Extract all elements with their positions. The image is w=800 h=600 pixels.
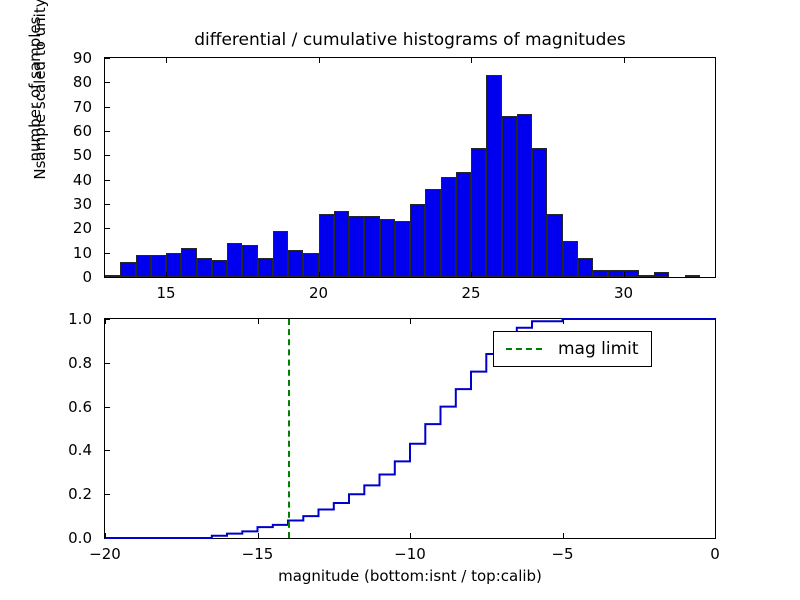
histogram-bar — [547, 214, 562, 277]
figure-canvas: differential / cumulative histograms of … — [0, 0, 800, 600]
histogram-bar — [395, 221, 410, 277]
histogram-bar — [532, 148, 547, 277]
histogram-bar — [364, 216, 379, 277]
top-y-tick-mark — [105, 58, 110, 59]
histogram-bar — [624, 270, 639, 277]
top-x-tick-label: 30 — [614, 284, 633, 302]
histogram-bar — [425, 189, 440, 277]
bottom-x-tick-mark — [410, 533, 411, 538]
top-y-tick-label: 20 — [32, 219, 92, 237]
histogram-bar — [242, 245, 257, 277]
bottom-x-tick-mark — [563, 533, 564, 538]
legend-label-mag-limit: mag limit — [558, 339, 639, 359]
top-y-tick-label: 10 — [32, 244, 92, 262]
top-y-tick-mark — [105, 131, 110, 132]
top-histogram-plot — [104, 57, 716, 278]
top-x-tick-mark — [319, 58, 320, 63]
top-y-tick-mark — [105, 228, 110, 229]
bottom-y-tick-label: 0.0 — [32, 529, 92, 547]
histogram-bar — [563, 241, 578, 278]
legend-box: mag limit — [493, 331, 652, 367]
histogram-bar — [517, 114, 532, 277]
bottom-x-tick-mark — [258, 533, 259, 538]
top-x-tick-label: 15 — [156, 284, 175, 302]
histogram-bar — [151, 255, 166, 277]
bottom-x-tick-mark — [715, 533, 716, 538]
top-y-tick-label: 0 — [32, 268, 92, 286]
bottom-x-tick-label: −15 — [242, 545, 274, 563]
bottom-x-tick-mark-top — [410, 319, 411, 324]
histogram-bar — [410, 204, 425, 277]
top-x-tick-mark — [624, 58, 625, 63]
bottom-y-tick-label: 0.6 — [32, 398, 92, 416]
histogram-bar — [654, 272, 669, 277]
bottom-y-tick-label: 0.4 — [32, 441, 92, 459]
histogram-bar — [380, 219, 395, 277]
bottom-y-axis-label: Nsample scaled to unity — [31, 0, 49, 204]
histogram-bar — [258, 258, 273, 277]
bottom-y-tick-label: 1.0 — [32, 310, 92, 328]
histogram-bar — [181, 248, 196, 277]
bottom-x-tick-mark-top — [105, 319, 106, 324]
histogram-bar — [639, 275, 654, 277]
histogram-bar — [212, 260, 227, 277]
top-y-tick-mark — [105, 155, 110, 156]
top-x-tick-mark-bottom — [471, 272, 472, 277]
top-x-tick-label: 25 — [461, 284, 480, 302]
bottom-x-tick-mark-top — [563, 319, 564, 324]
histogram-bar — [471, 148, 486, 277]
top-x-tick-mark-bottom — [166, 272, 167, 277]
histogram-bar — [593, 270, 608, 277]
histogram-bar — [578, 258, 593, 277]
chart-title: differential / cumulative histograms of … — [104, 30, 716, 50]
cumulative-plot: mag limit — [104, 318, 716, 539]
bottom-y-tick-mark — [105, 494, 110, 495]
top-y-tick-mark — [105, 82, 110, 83]
histogram-bar — [136, 255, 151, 277]
bottom-x-tick-label: −20 — [89, 545, 121, 563]
bottom-y-tick-mark — [105, 363, 110, 364]
histogram-bar — [349, 216, 364, 277]
top-x-tick-mark-bottom — [319, 272, 320, 277]
top-x-tick-mark — [471, 58, 472, 63]
histogram-bar — [105, 275, 120, 277]
bottom-y-tick-mark — [105, 407, 110, 408]
mag-limit-line — [288, 319, 290, 538]
histogram-bar — [441, 177, 456, 277]
bottom-x-tick-label: 0 — [710, 545, 720, 563]
bottom-y-tick-label: 0.8 — [32, 354, 92, 372]
bottom-y-tick-label: 0.2 — [32, 485, 92, 503]
histogram-bar — [502, 116, 517, 277]
top-x-tick-mark — [166, 58, 167, 63]
histogram-bar — [288, 250, 303, 277]
histogram-bar — [166, 253, 181, 277]
top-y-tick-mark — [105, 180, 110, 181]
histogram-bar — [319, 214, 334, 277]
histogram-bar — [273, 231, 288, 277]
histogram-bar — [334, 211, 349, 277]
bottom-x-tick-mark-top — [258, 319, 259, 324]
histogram-bar — [456, 172, 471, 277]
top-x-tick-label: 20 — [309, 284, 328, 302]
top-y-tick-mark — [105, 204, 110, 205]
histogram-bar — [227, 243, 242, 277]
histogram-bar — [685, 275, 700, 277]
histogram-bar — [303, 253, 318, 277]
x-axis-label: magnitude (bottom:isnt / top:calib) — [104, 567, 716, 585]
top-y-tick-mark — [105, 107, 110, 108]
mag-limit-legend-swatch — [506, 348, 542, 350]
top-y-tick-mark — [105, 253, 110, 254]
bottom-x-tick-mark-top — [715, 319, 716, 324]
histogram-bar — [486, 75, 501, 277]
bottom-x-tick-label: −5 — [551, 545, 573, 563]
bottom-y-tick-mark — [105, 450, 110, 451]
bottom-x-tick-label: −10 — [394, 545, 426, 563]
bottom-x-tick-mark — [105, 533, 106, 538]
histogram-bar — [608, 270, 623, 277]
histogram-bar — [120, 262, 135, 277]
histogram-bar — [197, 258, 212, 277]
top-x-tick-mark-bottom — [624, 272, 625, 277]
